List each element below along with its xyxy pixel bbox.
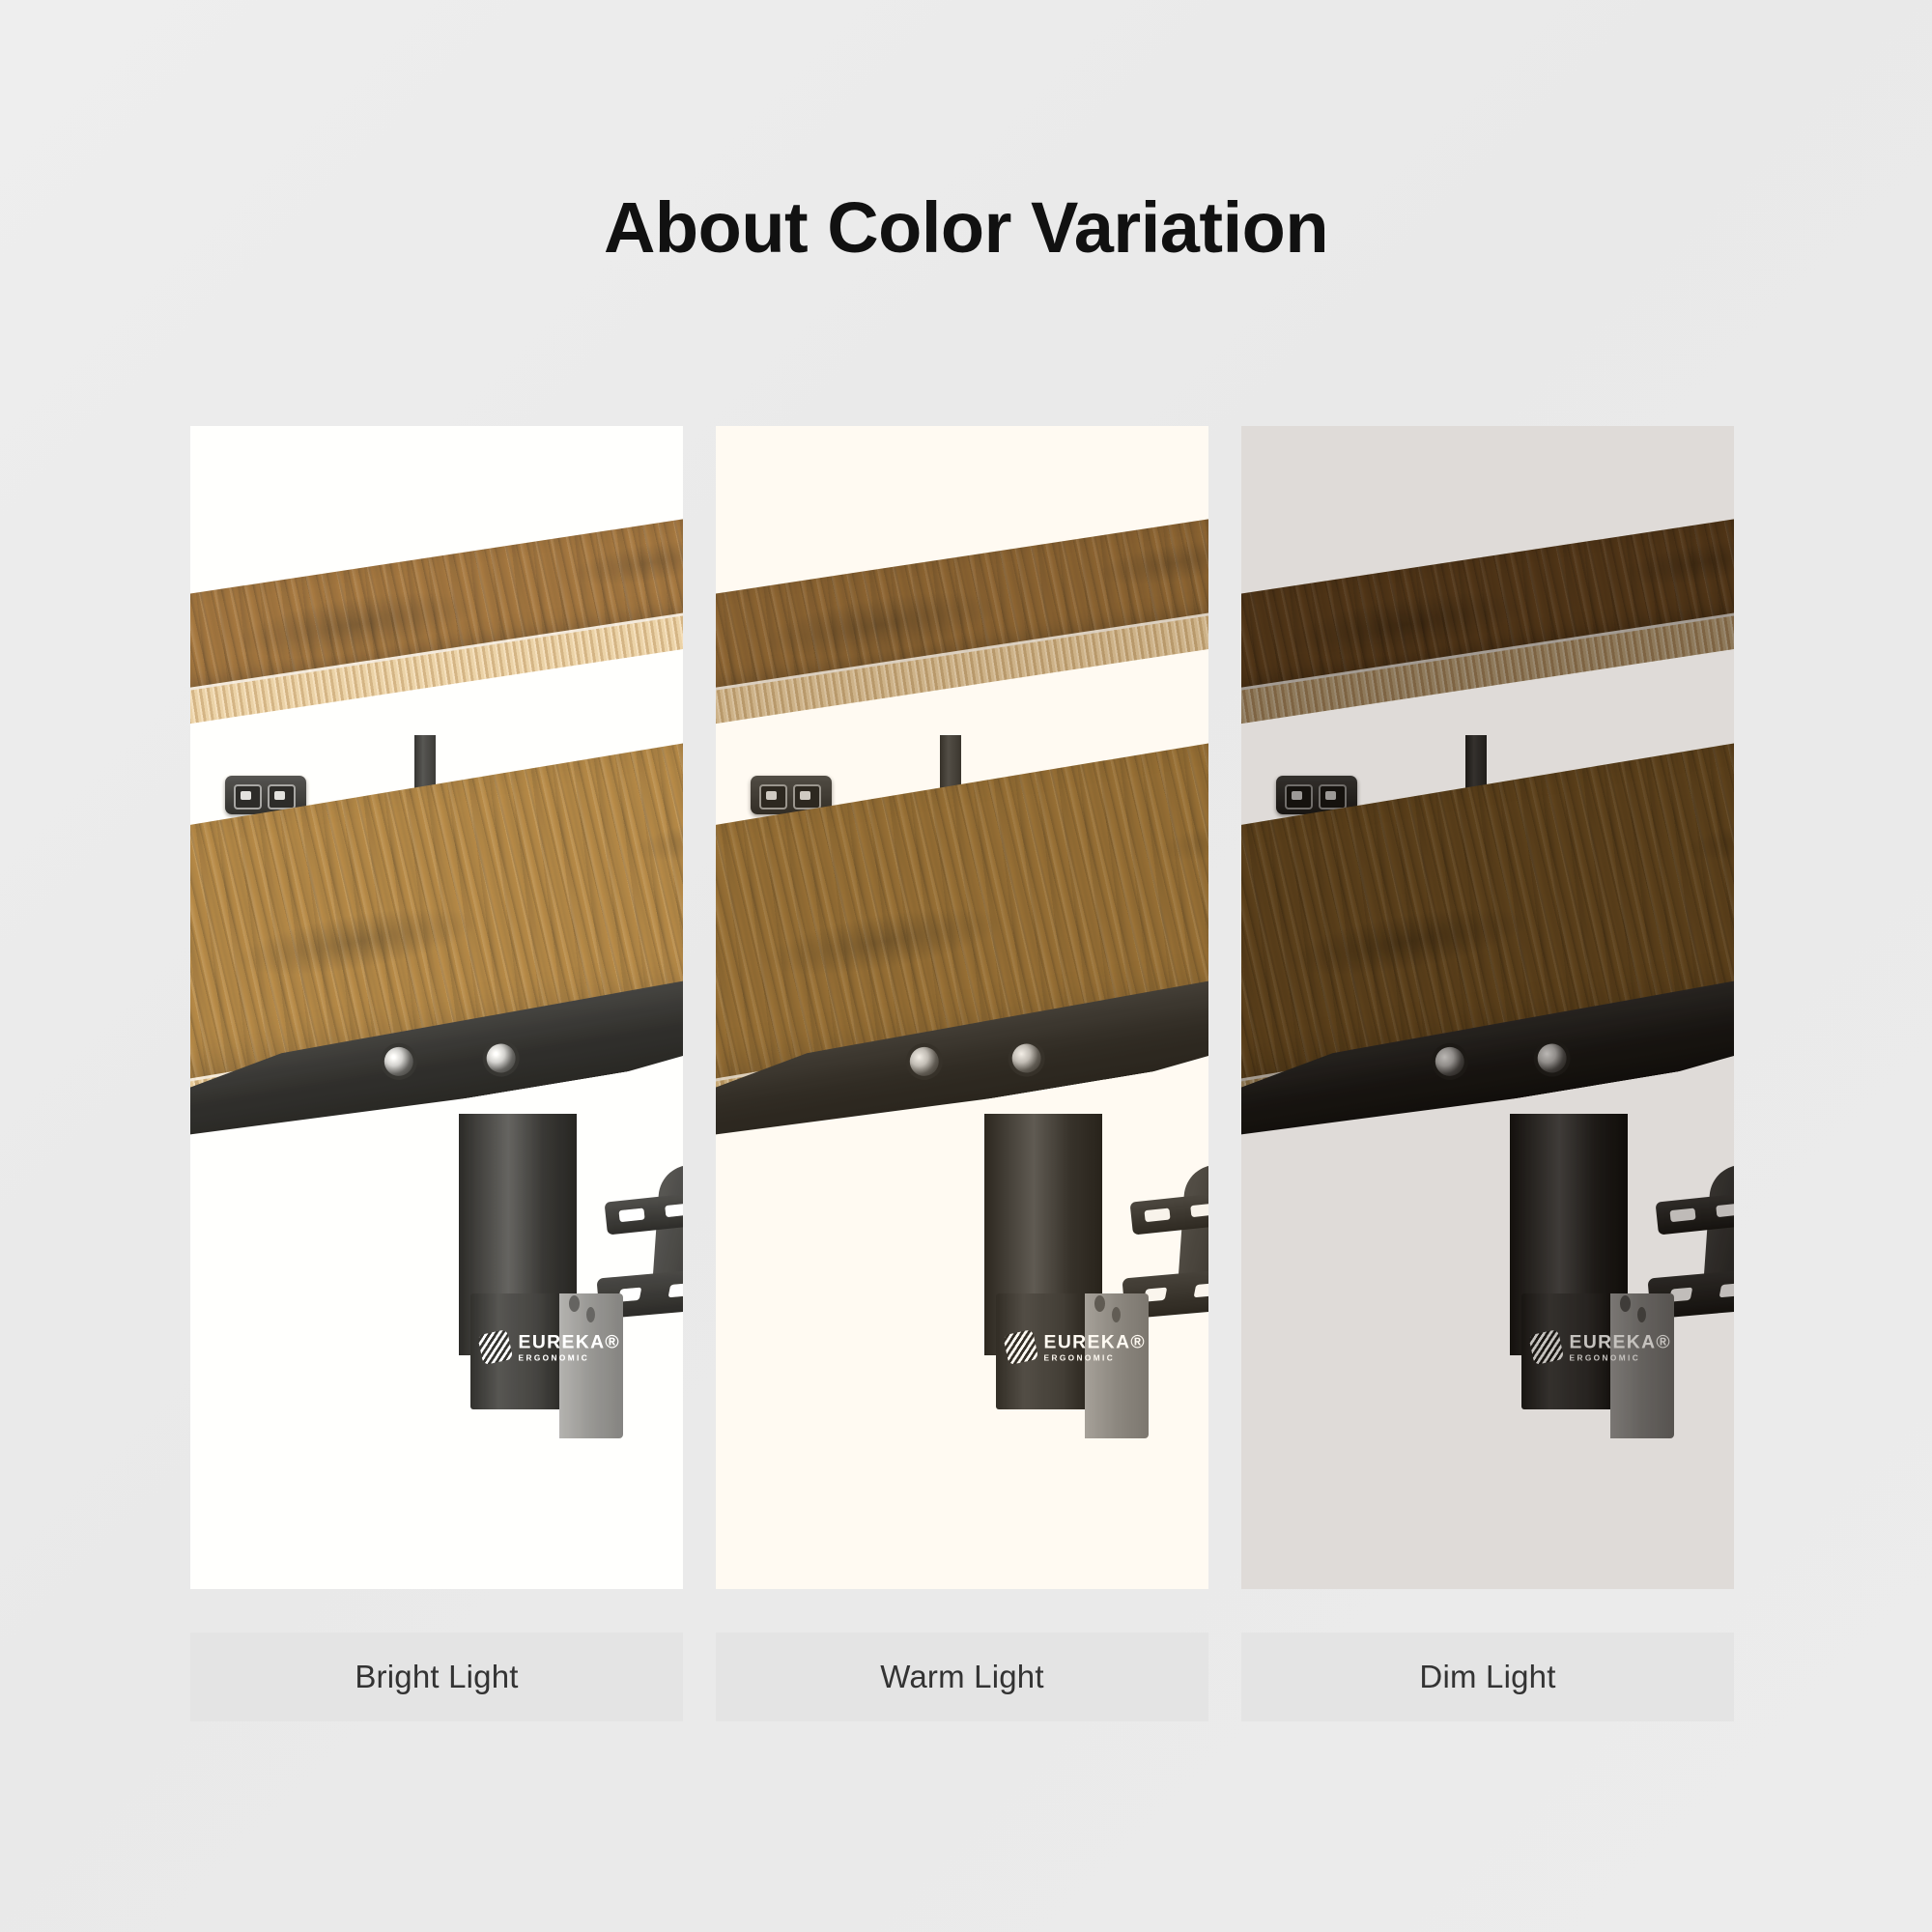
desk-illustration-bright: EUREKA® ERGONOMIC bbox=[190, 426, 683, 1589]
leg-screw bbox=[1094, 1295, 1105, 1312]
desk-illustration-dim: EUREKA® ERGONOMIC bbox=[1241, 426, 1734, 1589]
eureka-logo-icon bbox=[477, 1329, 513, 1365]
desk-leg-base bbox=[1610, 1293, 1674, 1438]
frame-bolt-2 bbox=[1009, 1041, 1042, 1074]
leg-screw bbox=[569, 1295, 580, 1312]
caption-row: Bright Light Warm Light Dim Light bbox=[190, 1633, 1734, 1721]
frame-bolt-1 bbox=[383, 1045, 415, 1078]
brand-logo: EUREKA® ERGONOMIC bbox=[1006, 1332, 1146, 1362]
frame-bolt-2 bbox=[484, 1041, 517, 1074]
brand-logo: EUREKA® ERGONOMIC bbox=[480, 1332, 620, 1362]
control-port-2 bbox=[1319, 784, 1347, 810]
page-title: About Color Variation bbox=[0, 184, 1932, 273]
control-port-2 bbox=[268, 784, 296, 810]
control-port-1 bbox=[1285, 784, 1313, 810]
brand-sub: ERGONOMIC bbox=[1570, 1354, 1671, 1362]
product-image-warm-light[interactable]: EUREKA® ERGONOMIC bbox=[716, 426, 1208, 1589]
control-port-1 bbox=[234, 784, 262, 810]
brand-sub: ERGONOMIC bbox=[1044, 1354, 1146, 1362]
desk-leg-base bbox=[559, 1293, 623, 1438]
desk-leg-base bbox=[1085, 1293, 1149, 1438]
brand-sub: ERGONOMIC bbox=[519, 1354, 620, 1362]
caption-warm-light: Warm Light bbox=[716, 1633, 1208, 1721]
upper-shelf bbox=[1241, 487, 1734, 749]
frame-bolt-1 bbox=[1434, 1045, 1466, 1078]
frame-bolt-2 bbox=[1535, 1041, 1568, 1074]
brand-logo: EUREKA® ERGONOMIC bbox=[1531, 1332, 1671, 1362]
page-background: About Color Variation bbox=[0, 0, 1932, 1932]
leg-screw bbox=[1620, 1295, 1631, 1312]
product-image-gallery: EUREKA® ERGONOMIC bbox=[190, 426, 1734, 1589]
upper-shelf bbox=[190, 487, 683, 749]
caption-bright-light: Bright Light bbox=[190, 1633, 683, 1721]
brand-name: EUREKA® bbox=[1044, 1332, 1146, 1350]
caption-dim-light: Dim Light bbox=[1241, 1633, 1734, 1721]
product-image-dim-light[interactable]: EUREKA® ERGONOMIC bbox=[1241, 426, 1734, 1589]
brand-name: EUREKA® bbox=[519, 1332, 620, 1350]
frame-bolt-1 bbox=[908, 1045, 941, 1078]
desk-illustration-warm: EUREKA® ERGONOMIC bbox=[716, 426, 1208, 1589]
eureka-logo-icon bbox=[1003, 1329, 1038, 1365]
control-port-2 bbox=[793, 784, 821, 810]
product-image-bright-light[interactable]: EUREKA® ERGONOMIC bbox=[190, 426, 683, 1589]
brand-name: EUREKA® bbox=[1570, 1332, 1671, 1350]
eureka-logo-icon bbox=[1528, 1329, 1564, 1365]
upper-shelf bbox=[716, 487, 1208, 749]
control-port-1 bbox=[759, 784, 787, 810]
